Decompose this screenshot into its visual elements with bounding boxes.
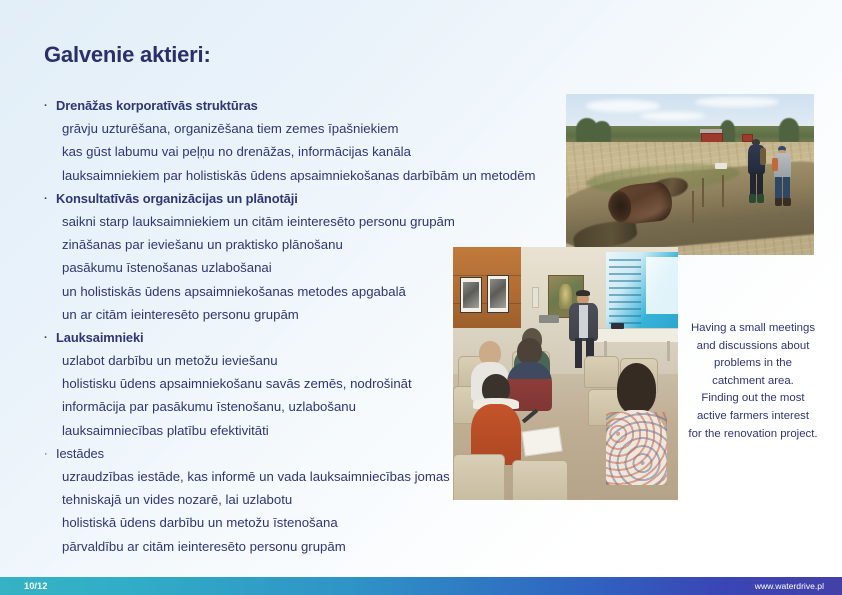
- photo-picture-frame: [487, 275, 510, 313]
- list-item: saikni starp lauksaimniekiem un citām ie…: [44, 210, 604, 233]
- photo-person-leg: [775, 177, 781, 200]
- photo-marker-box: [715, 163, 727, 169]
- photo-equipment: [539, 315, 559, 323]
- photo-speaker-shirt: [579, 305, 588, 338]
- caption-line: problems in the: [672, 355, 834, 373]
- photo-tree: [779, 118, 799, 142]
- photo-person: [772, 146, 794, 207]
- list-item: holistiskā ūdens darbību un metožu īsten…: [44, 511, 604, 534]
- list-item-label: Konsultatīvās organizācijas un plānotāji: [56, 191, 298, 206]
- page-title: Galvenie aktieri:: [44, 42, 211, 68]
- photo-table-leg: [667, 341, 670, 361]
- photo-person-leg: [757, 173, 763, 197]
- photo-person-leg: [783, 177, 789, 200]
- photo-attendee-pattern: [606, 412, 667, 485]
- project-url[interactable]: www.waterdrive.pl: [755, 577, 824, 595]
- bullet-icon: ·: [44, 327, 56, 350]
- photo-attendee-head: [479, 341, 501, 365]
- photo-person-boot: [775, 198, 782, 207]
- photo-table: [593, 328, 679, 342]
- photo-speaker-hair: [576, 290, 591, 296]
- list-item: kas gūst labumu vai peļņu no drenāžas, i…: [44, 140, 604, 163]
- photo-attendee: [606, 363, 667, 484]
- photo-cloud: [695, 97, 779, 107]
- list-item-heading: ·Drenāžas korporatīvās struktūras: [44, 94, 604, 117]
- caption-line: active farmers interest: [672, 408, 834, 426]
- list-item-heading: ·Konsultatīvās organizācijas un plānotāj…: [44, 187, 604, 210]
- photo-chair: [453, 454, 505, 500]
- meeting-room-photo: [453, 247, 678, 500]
- photo-projection-screen: [606, 252, 678, 333]
- photo-speaker-leg: [575, 338, 583, 368]
- bullet-icon: ·: [44, 443, 56, 466]
- photo-person-boot: [783, 198, 790, 207]
- photo-chair: [512, 460, 568, 500]
- photo-cloud: [640, 112, 704, 120]
- photo-tree: [593, 121, 610, 142]
- photo-picture-frame: [460, 277, 483, 312]
- photo-person-leg: [750, 173, 756, 197]
- photo-person-bag: [772, 158, 778, 171]
- slide-number: 10/12: [24, 577, 47, 595]
- photo-barn: [701, 133, 723, 143]
- slide: Galvenie aktieri: ·Drenāžas korporatīvās…: [0, 0, 842, 595]
- photo-attendee-head: [617, 363, 656, 414]
- photo-stake: [722, 175, 723, 207]
- photo-stake: [702, 178, 703, 207]
- photo-screen-text: [609, 259, 641, 327]
- photo-person-boot: [757, 194, 764, 202]
- photo-picture-image: [490, 279, 506, 308]
- photo-picture-image: [463, 282, 479, 309]
- photo-attendee: [471, 374, 521, 465]
- photo-person: [746, 139, 768, 203]
- caption-line: and discussions about: [672, 338, 834, 356]
- caption-line: for the renovation project.: [672, 426, 834, 444]
- photo-attendee-head: [517, 338, 542, 364]
- list-item-label: Lauksaimnieki: [56, 330, 144, 345]
- list-item: lauksaimniekiem par holistiskās ūdens ap…: [44, 164, 604, 187]
- bullet-icon: ·: [44, 188, 56, 211]
- photo-wall-panel: [532, 287, 539, 307]
- photo-person-backpack: [760, 148, 766, 165]
- photo-person-boot: [749, 194, 756, 202]
- drainage-field-photo: [566, 94, 814, 255]
- caption-line: Finding out the most: [672, 390, 834, 408]
- list-item-label: Drenāžas korporatīvās struktūras: [56, 98, 258, 113]
- list-item: grāvju uzturēšana, organizēšana tiem zem…: [44, 117, 604, 140]
- footer-bar: 10/12 www.waterdrive.pl: [0, 577, 842, 595]
- photo-caption: Having a small meetings and discussions …: [672, 320, 834, 443]
- photo-cloud: [586, 100, 660, 111]
- caption-line: Having a small meetings: [672, 320, 834, 338]
- list-item-label: Iestādes: [56, 446, 104, 461]
- photo-stake: [692, 191, 693, 223]
- photo-laptop: [611, 323, 625, 329]
- list-item: pārvaldību ar citām ieinteresēto personu…: [44, 535, 604, 558]
- caption-line: catchment area.: [672, 373, 834, 391]
- bullet-icon: ·: [44, 95, 56, 118]
- photo-screen-chart: [646, 257, 678, 314]
